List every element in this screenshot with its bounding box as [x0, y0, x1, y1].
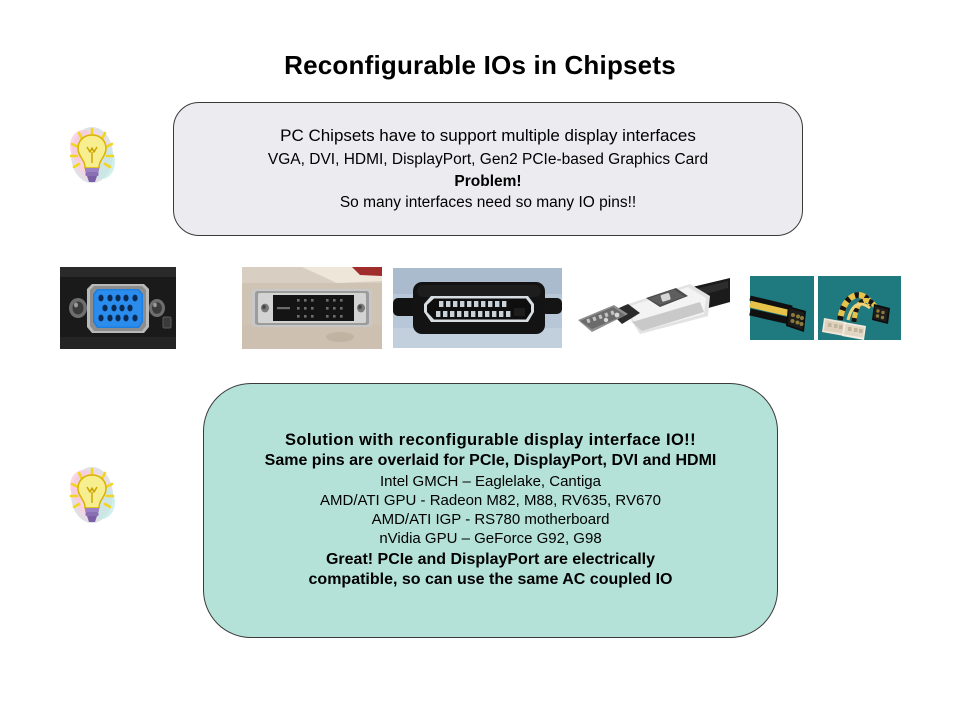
problem-line-3: Problem!	[454, 173, 521, 191]
solution-line-7: Great! PCIe and DisplayPort are electric…	[326, 551, 655, 570]
dvi-connector-photo	[242, 267, 382, 349]
problem-callout-box: PC Chipsets have to support multiple dis…	[173, 102, 803, 236]
hdmi-connector-photo	[393, 268, 562, 348]
page-title: Reconfigurable IOs in Chipsets	[0, 50, 960, 81]
solution-line-1: Solution with reconfigurable display int…	[285, 431, 696, 450]
vga-connector-photo	[60, 267, 176, 349]
solution-line-2: Same pins are overlaid for PCIe, Display…	[265, 452, 717, 471]
solution-line-6: nVidia GPU – GeForce G92, G98	[379, 530, 601, 548]
problem-line-1: PC Chipsets have to support multiple dis…	[280, 126, 696, 146]
solution-line-4: AMD/ATI GPU - Radeon M82, M88, RV635, RV…	[320, 492, 661, 510]
lightbulb-icon	[63, 462, 121, 528]
solution-line-8: compatible, so can use the same AC coupl…	[309, 571, 673, 590]
pcie-power-connector-photo	[748, 270, 903, 348]
lightbulb-icon	[63, 122, 121, 188]
displayport-connector-photo	[570, 272, 730, 346]
problem-line-4: So many interfaces need so many IO pins!…	[340, 194, 636, 212]
problem-line-2: VGA, DVI, HDMI, DisplayPort, Gen2 PCIe-b…	[268, 151, 708, 169]
solution-line-5: AMD/ATI IGP - RS780 motherboard	[372, 511, 610, 529]
solution-line-3: Intel GMCH – Eaglelake, Cantiga	[380, 473, 601, 491]
solution-callout-box: Solution with reconfigurable display int…	[203, 383, 778, 638]
